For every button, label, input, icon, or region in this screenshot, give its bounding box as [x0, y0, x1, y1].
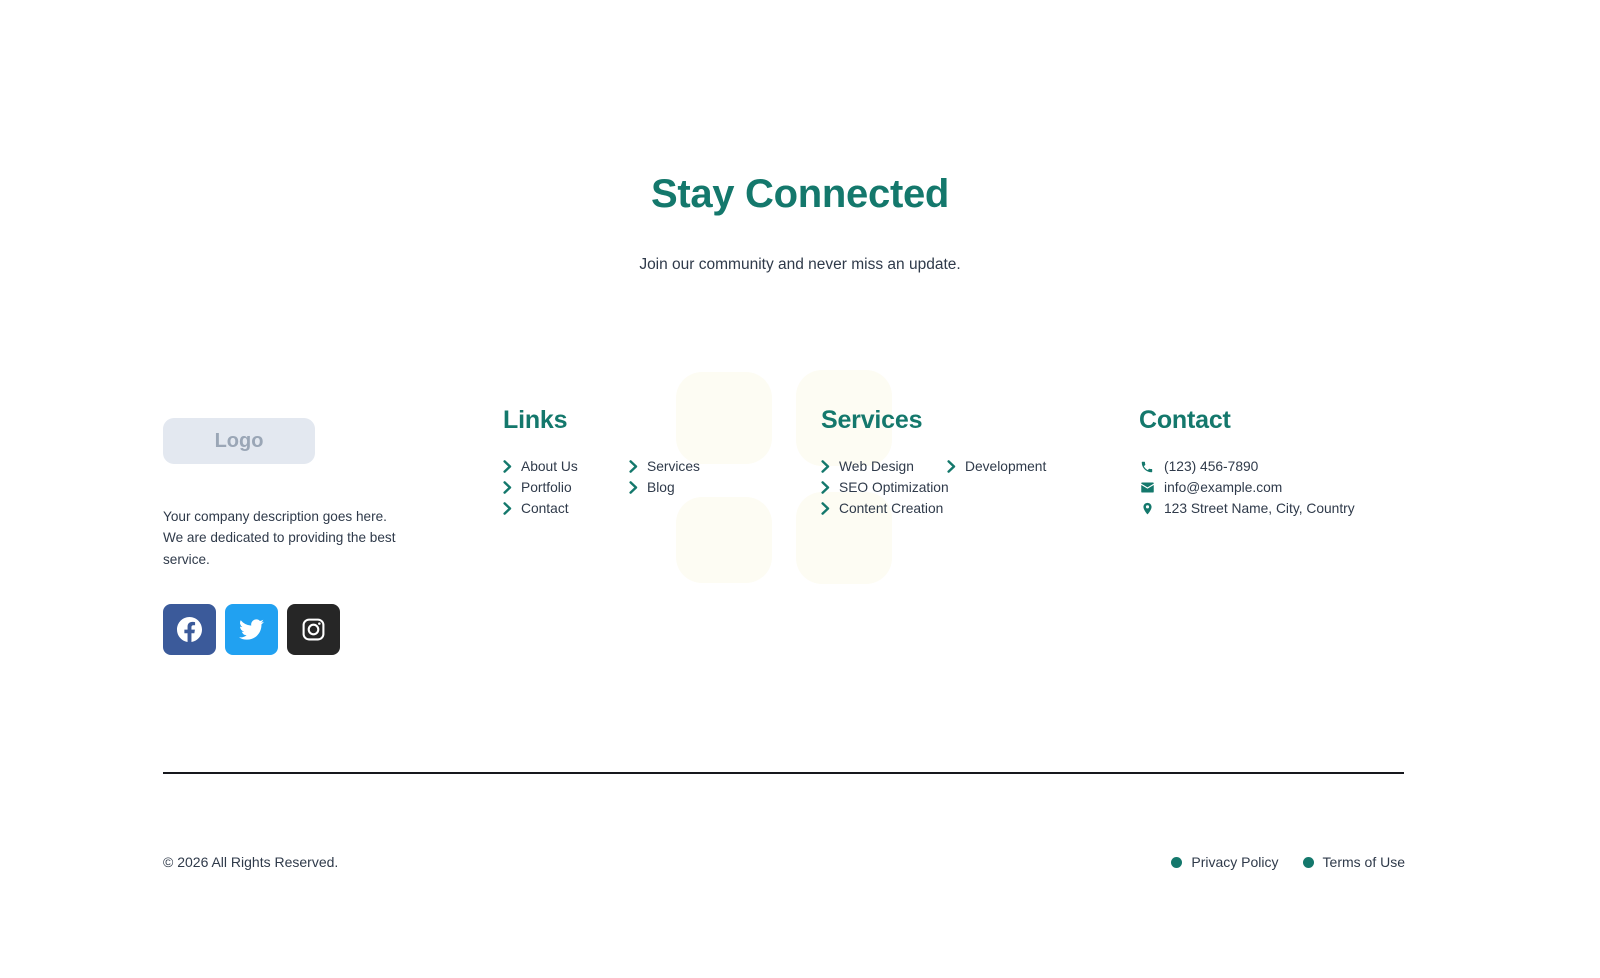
- chevron-right-icon: [947, 460, 956, 473]
- service-link-seo-optimization[interactable]: SEO Optimization: [821, 477, 939, 498]
- footer-link-label: Blog: [647, 481, 675, 495]
- chevron-right-icon: [503, 481, 512, 494]
- contact-phone[interactable]: (123) 456-7890: [1139, 456, 1405, 477]
- chevron-right-icon: [629, 481, 638, 494]
- contact-address[interactable]: 123 Street Name, City, Country: [1139, 498, 1405, 519]
- service-link-label: Content Creation: [839, 502, 943, 516]
- twitter-icon: [239, 617, 264, 642]
- legal-link-label: Privacy Policy: [1191, 855, 1278, 869]
- footer-link-blog[interactable]: Blog: [629, 477, 821, 498]
- legal-link-privacy-policy[interactable]: Privacy Policy: [1171, 855, 1278, 869]
- page-subtitle: Join our community and never miss an upd…: [0, 254, 1600, 276]
- logo-placeholder[interactable]: Logo: [163, 418, 315, 464]
- footer-link-about-us[interactable]: About Us: [503, 456, 621, 477]
- social-links: [163, 604, 503, 655]
- facebook-icon: [177, 617, 202, 642]
- footer-link-services[interactable]: Services: [629, 456, 821, 477]
- legal-link-terms-of-use[interactable]: Terms of Use: [1303, 855, 1405, 869]
- service-link-development[interactable]: Development: [947, 456, 1139, 477]
- footer-link-label: Services: [647, 460, 700, 474]
- contact-phone-value: (123) 456-7890: [1164, 460, 1258, 474]
- footer-link-label: About Us: [521, 460, 578, 474]
- contact-title: Contact: [1139, 408, 1405, 433]
- company-description: Your company description goes here. We a…: [163, 506, 409, 570]
- links-list: About Us Services Portfolio Blog Contact: [503, 456, 821, 519]
- footer-columns: Logo Your company description goes here.…: [163, 408, 1405, 655]
- footer-link-contact[interactable]: Contact: [503, 498, 621, 519]
- contact-address-value: 123 Street Name, City, Country: [1164, 502, 1355, 516]
- service-link-label: SEO Optimization: [839, 481, 949, 495]
- footer-link-portfolio[interactable]: Portfolio: [503, 477, 621, 498]
- links-column: Links About Us Services Portfolio Blog: [503, 408, 821, 655]
- social-link-twitter[interactable]: [225, 604, 278, 655]
- copyright-text: © 2026 All Rights Reserved.: [163, 855, 338, 869]
- services-column: Services Web Design Development SEO Opti…: [821, 408, 1139, 655]
- contact-column: Contact (123) 456-7890: [1139, 408, 1405, 655]
- social-link-instagram[interactable]: [287, 604, 340, 655]
- footer-divider: [163, 772, 1404, 774]
- contact-email[interactable]: info@example.com: [1139, 477, 1405, 498]
- brand-column: Logo Your company description goes here.…: [163, 408, 503, 655]
- chevron-right-icon: [821, 502, 830, 515]
- contact-list: (123) 456-7890 info@example.com: [1139, 456, 1405, 519]
- service-link-label: Web Design: [839, 460, 914, 474]
- chevron-right-icon: [821, 481, 830, 494]
- services-list: Web Design Development SEO Optimization …: [821, 456, 1139, 519]
- legal-link-label: Terms of Use: [1323, 855, 1405, 869]
- location-pin-icon: [1139, 501, 1155, 516]
- service-link-web-design[interactable]: Web Design: [821, 456, 939, 477]
- bullet-dot-icon: [1171, 857, 1182, 868]
- bullet-dot-icon: [1303, 857, 1314, 868]
- service-link-label: Development: [965, 460, 1046, 474]
- contact-email-value: info@example.com: [1164, 481, 1282, 495]
- instagram-icon: [301, 617, 326, 642]
- phone-icon: [1139, 460, 1155, 474]
- services-grid-spacer: [947, 477, 1139, 498]
- chevron-right-icon: [503, 460, 512, 473]
- footer-link-label: Portfolio: [521, 481, 572, 495]
- legal-links: Privacy Policy Terms of Use: [1171, 855, 1405, 869]
- chevron-right-icon: [503, 502, 512, 515]
- envelope-icon: [1139, 480, 1155, 495]
- footer-page: Stay Connected Join our community and ne…: [0, 0, 1600, 978]
- hero-section: Stay Connected Join our community and ne…: [0, 172, 1600, 276]
- chevron-right-icon: [821, 460, 830, 473]
- chevron-right-icon: [629, 460, 638, 473]
- services-title: Services: [821, 408, 1139, 433]
- links-title: Links: [503, 408, 821, 433]
- social-link-facebook[interactable]: [163, 604, 216, 655]
- footer-link-label: Contact: [521, 502, 569, 516]
- service-link-content-creation[interactable]: Content Creation: [821, 498, 939, 519]
- page-title: Stay Connected: [0, 172, 1600, 216]
- logo-text: Logo: [215, 430, 264, 453]
- footer-bottom-bar: © 2026 All Rights Reserved. Privacy Poli…: [163, 855, 1405, 869]
